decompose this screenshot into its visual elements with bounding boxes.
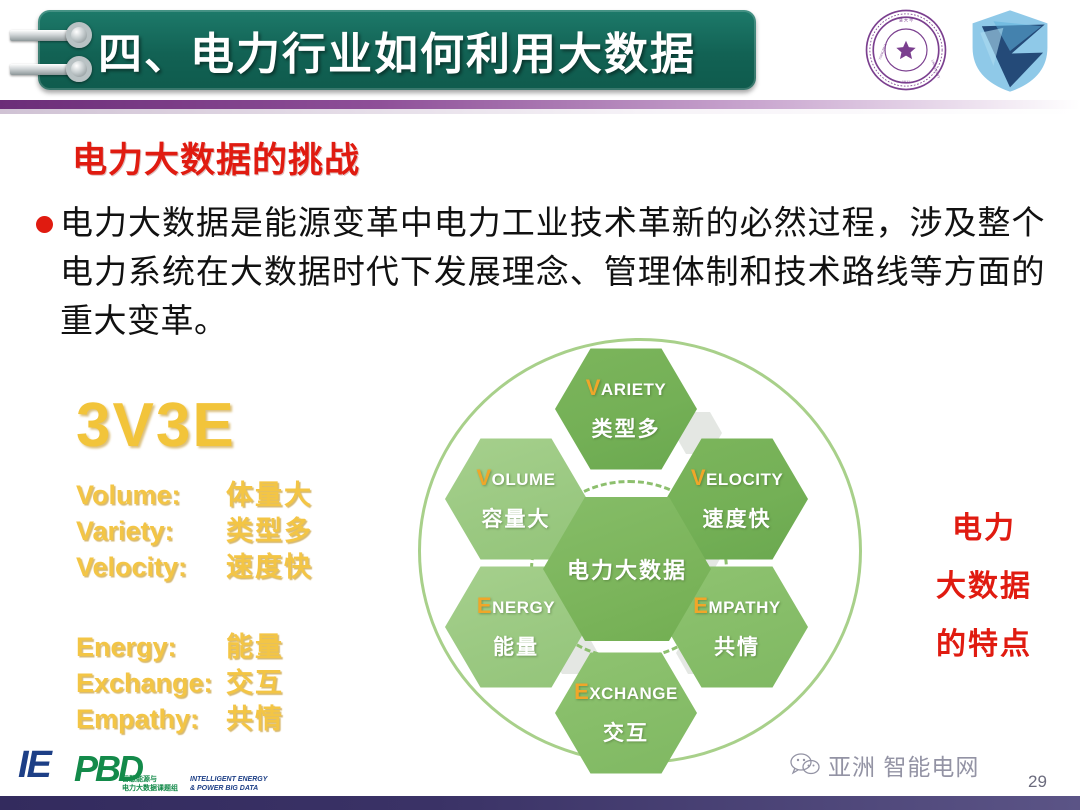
hexagon-diagram: VARIETY 类型多 VOLUME 容量大 VELOCITY 速度快 ENER… <box>404 332 876 772</box>
red-label-line: 电力 <box>900 500 1068 558</box>
binder-ring-circle <box>66 56 92 82</box>
tv3e-term: Volume: <box>76 477 226 513</box>
hex-rest-letters: MPATHY <box>708 598 780 617</box>
hex-cap-letter: E <box>574 679 589 704</box>
tv3e-meaning: 共情 <box>226 701 284 737</box>
binder-ring-icon <box>10 22 116 48</box>
hex-cap-letter: E <box>477 593 492 618</box>
three-v-three-e-block: 3V3E Volume: 体量大 Variety: 类型多 Velocity: … <box>76 395 406 737</box>
hex-label-en: VOLUME <box>476 465 555 491</box>
hex-cap-letter: V <box>691 465 706 490</box>
hex-rest-letters: OLUME <box>492 470 556 489</box>
tv3e-heading: 3V3E <box>76 395 406 457</box>
bullet-text: 电力大数据是能源变革中电力工业技术革新的必然过程，涉及整个电力系统在大数据时代下… <box>60 198 1045 345</box>
tv3e-row: Velocity: 速度快 <box>76 549 406 585</box>
hex-label-en: EXCHANGE <box>574 679 678 705</box>
tv3e-row: Empathy: 共情 <box>76 701 406 737</box>
header-divider-shadow <box>0 109 1080 114</box>
tsinghua-university-logo: 清 大 华 ·1911· TSINGHUA UNIVERSITY <box>864 8 948 92</box>
page-number: 29 <box>1028 772 1047 792</box>
tv3e-row: Variety: 类型多 <box>76 513 406 549</box>
hex-cap-letter: E <box>693 593 708 618</box>
logo-subtitle-cn: 智慧能源与 电力大数据课题组 <box>122 775 178 793</box>
binder-ring-icon <box>10 56 116 82</box>
presentation-slide: 四、电力行业如何利用大数据 清 大 华 ·1911· TSINGHUA UNIV… <box>0 0 1080 810</box>
tv3e-meaning: 类型多 <box>226 513 313 549</box>
slide-bottom-bar <box>0 796 1080 810</box>
tv3e-meaning: 速度快 <box>226 549 313 585</box>
logo-subtitle-en: INTELLIGENT ENERGY & POWER BIG DATA <box>190 775 267 793</box>
tv3e-term: Energy: <box>76 629 226 665</box>
slide-header: 四、电力行业如何利用大数据 清 大 华 ·1911· TSINGHUA UNIV… <box>0 0 1080 100</box>
red-label-line: 大数据 <box>900 558 1068 616</box>
wechat-icon <box>790 753 820 777</box>
tv3e-group-v: Volume: 体量大 Variety: 类型多 Velocity: 速度快 <box>76 477 406 585</box>
tv3e-meaning: 交互 <box>226 665 284 701</box>
tv3e-meaning: 能量 <box>226 629 284 665</box>
binder-ring-circle <box>66 22 92 48</box>
section-title-plate: 四、电力行业如何利用大数据 <box>38 10 756 90</box>
right-red-label: 电力 大数据 的特点 <box>900 500 1068 674</box>
tv3e-term: Velocity: <box>76 549 226 585</box>
header-divider <box>0 100 1080 109</box>
bullet-dot-icon <box>36 216 53 233</box>
hex-label-en: ENERGY <box>477 593 555 619</box>
logo-subtitle-cn-line1: 智慧能源与 <box>122 775 178 784</box>
hex-label-cn: 共情 <box>714 631 760 661</box>
svg-text:清 大 华: 清 大 华 <box>899 16 914 23</box>
hex-cap-letter: V <box>476 465 491 490</box>
wechat-watermark: 亚洲 智能电网 <box>790 748 979 782</box>
tv3e-term: Variety: <box>76 513 226 549</box>
hex-label-cn: 类型多 <box>592 413 661 443</box>
tv3e-row: Volume: 体量大 <box>76 477 406 513</box>
hex-label-en: VELOCITY <box>691 465 783 491</box>
hex-label-cn: 交互 <box>603 717 649 747</box>
tv3e-term: Exchange: <box>76 665 226 701</box>
hex-rest-letters: NERGY <box>492 598 555 617</box>
hex-label-en: VARIETY <box>586 375 667 401</box>
hex-label-cn: 能量 <box>493 631 539 661</box>
content-subtitle: 电力大数据的挑战 <box>72 132 360 183</box>
hex-rest-letters: ARIETY <box>601 380 666 399</box>
section-title: 四、电力行业如何利用大数据 <box>98 18 696 82</box>
tv3e-meaning: 体量大 <box>226 477 313 513</box>
logo-subtitle-cn-line2: 电力大数据课题组 <box>122 784 178 793</box>
hex-rest-letters: XCHANGE <box>589 684 678 703</box>
hex-cap-letter: V <box>586 375 601 400</box>
tv3e-group-e: Energy: 能量 Exchange: 交互 Empathy: 共情 <box>76 629 406 737</box>
svg-text:·1911·: ·1911· <box>900 80 911 85</box>
blue-shield-logo <box>968 8 1052 94</box>
iepbd-logo: IE PBD 智慧能源与 电力大数据课题组 INTELLIGENT ENERGY… <box>18 742 268 794</box>
tv3e-term: Empathy: <box>76 701 226 737</box>
hex-label-cn: 容量大 <box>482 503 551 533</box>
red-label-line: 的特点 <box>900 616 1068 674</box>
hex-rest-letters: ELOCITY <box>706 470 783 489</box>
hex-center-label: 电力大数据 <box>567 553 687 585</box>
watermark-text: 亚洲 智能电网 <box>828 748 979 782</box>
tv3e-row: Exchange: 交互 <box>76 665 406 701</box>
hex-label-en: EMPATHY <box>693 593 780 619</box>
hex-label-cn: 速度快 <box>703 503 772 533</box>
logo-ie-text: IE <box>18 744 50 787</box>
logo-subtitle-en-line1: INTELLIGENT ENERGY <box>190 775 267 784</box>
tv3e-row: Energy: 能量 <box>76 629 406 665</box>
logo-subtitle-en-line2: & POWER BIG DATA <box>190 784 267 793</box>
